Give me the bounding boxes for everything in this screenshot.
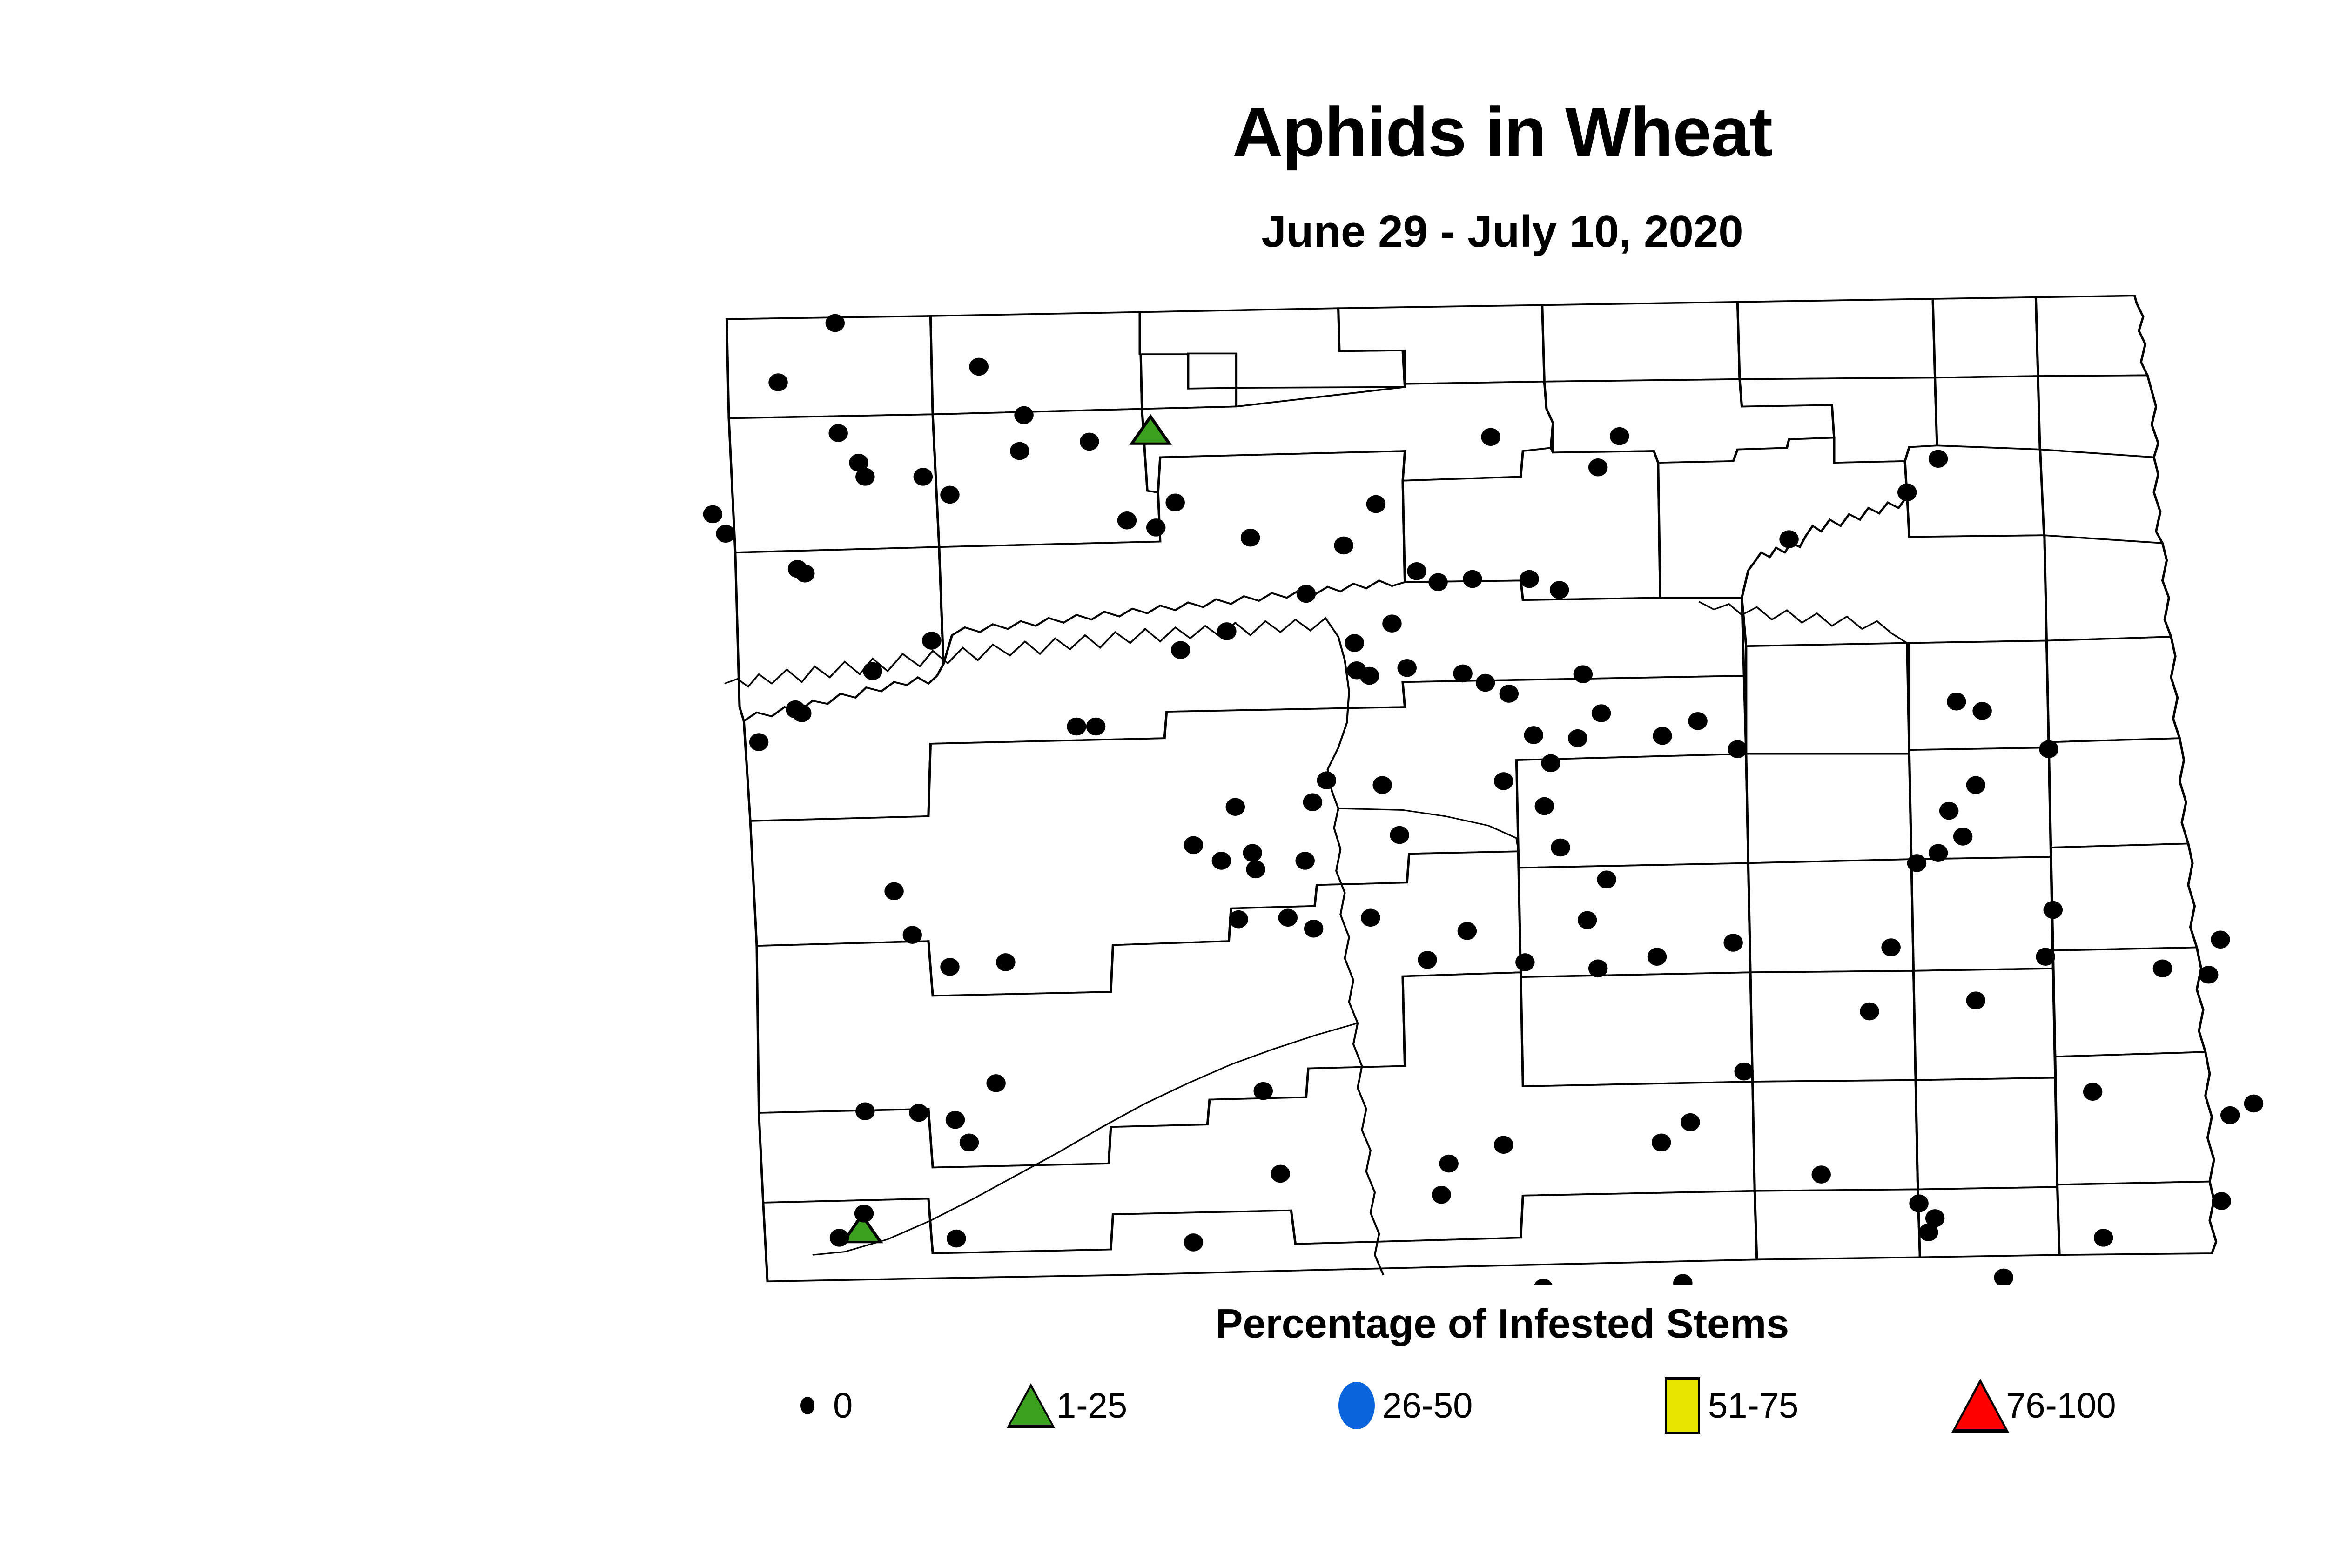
map-marker-0 [2083,1083,2103,1101]
map-marker-0 [1297,585,1316,603]
map-marker-0 [969,358,989,376]
map-marker-0 [1610,427,1629,445]
black-dot-icon [782,1397,833,1414]
map-marker-0 [1366,495,1386,513]
legend-item-1: 1-25 [1005,1383,1331,1428]
map-marker-0 [1966,991,1986,1009]
map-marker-0 [1535,797,1554,815]
map-marker-0 [1500,685,1519,703]
map-marker-0 [947,1230,966,1248]
map-marker-0 [1524,726,1544,744]
map-marker-0 [1592,704,1611,722]
map-marker-0 [1432,1186,1451,1204]
map-marker-0 [1146,518,1166,537]
map-marker-0 [1317,771,1337,789]
map-marker-0 [1295,852,1315,870]
map-marker-0 [828,424,848,442]
map-marker-0 [1014,406,1034,424]
map-marker-0 [2044,901,2063,919]
blue-circle-icon [1331,1382,1382,1429]
map-marker-0 [1574,665,1593,683]
map-marker-0 [1246,861,1265,879]
map-marker-0 [1067,718,1086,736]
map-marker-0 [1533,1279,1553,1285]
map-marker-0 [1407,562,1426,580]
map-marker-0 [1673,1274,1693,1285]
map-marker-0 [2212,1192,2232,1210]
county-boundaries [726,296,2216,1281]
map-marker-0 [1515,953,1535,971]
map-marker-0 [1217,622,1237,640]
legend-label-2: 26-50 [1382,1386,1473,1426]
map-marker-0 [884,882,904,901]
map-marker-0 [1184,836,1204,855]
map-marker-0 [1588,458,1608,477]
map-marker-0 [1929,450,1948,468]
map-marker-0 [1453,665,1473,683]
map-marker-0 [1734,1063,1754,1081]
map-marker-0 [1390,826,1409,844]
map-marker-0 [903,926,922,944]
map-marker-0 [2220,1106,2240,1124]
map-marker-0 [830,1229,849,1247]
map-marker-0 [2199,966,2219,984]
map-marker-0 [1226,798,1245,816]
map-marker-0 [1897,484,1917,502]
map-marker-0 [2153,960,2172,978]
map-marker-0 [1418,951,1437,969]
map-marker-0 [1241,529,1260,547]
page-subtitle: June 29 - July 10, 2020 [0,209,2327,254]
map-marker-0 [1919,1223,1938,1241]
map-marker-0 [2094,1229,2113,1247]
map-marker-0 [2244,1095,2264,1113]
map-marker-0 [1463,570,1482,588]
map-marker-0 [792,704,812,722]
map-marker-0 [960,1134,979,1152]
map-marker-0 [1278,909,1298,927]
map-marker-0 [940,958,960,976]
map-page: Aphids in Wheat June 29 - July 10, 2020 [0,0,2327,1568]
map-marker-0 [1428,573,1448,591]
map-marker-0 [1334,537,1353,555]
map-marker-0 [1947,693,1966,711]
map-marker-0 [1811,1165,1831,1184]
map-marker-0 [1972,702,1992,720]
map-marker-0 [946,1111,965,1129]
map-marker-0 [1652,1134,1671,1152]
map-marker-0 [1086,718,1106,736]
map-marker-0 [1723,934,1743,952]
map-marker-0 [863,662,882,680]
map-marker-0 [1476,674,1495,692]
map-marker-0 [1953,828,1973,846]
map-marker-0 [826,314,845,332]
map-marker-0 [1165,493,1185,511]
map-marker-0 [1171,641,1190,659]
map-marker-0 [1397,659,1417,677]
map-marker-0 [1588,960,1608,978]
map-marker-0 [940,486,960,504]
map-marker-0 [909,1104,928,1122]
map-marker-0 [1939,802,1959,820]
map-svg [652,270,2327,1285]
map-marker-0 [1271,1165,1290,1183]
map-marker-0 [749,733,769,751]
map-marker-0 [1653,727,1672,745]
legend-item-4: 76-100 [1955,1379,2234,1433]
map-marker-0 [768,373,788,391]
map-marker-0 [1688,712,1708,730]
map-marker-0 [1439,1155,1459,1173]
map-marker-0 [1494,1136,1513,1154]
map-marker-0 [1550,581,1569,599]
map-marker-0 [1909,1194,1929,1212]
legend: 0 1-25 26-50 51-75 76-100 [782,1364,2271,1447]
map-marker-0 [2036,948,2055,966]
map-marker-0 [1360,667,1379,685]
map-marker-0 [1117,511,1137,530]
map-marker-0 [2039,740,2058,758]
map-marker-0 [1254,1082,1273,1100]
legend-label-1: 1-25 [1056,1386,1127,1426]
map-marker-0 [855,468,875,486]
map-marker-0 [922,632,942,650]
map-marker-0 [1881,938,1901,956]
map-marker-0 [795,565,815,583]
map-marker-0 [1994,1269,2013,1285]
map-marker-0 [716,525,735,543]
map-marker-0 [914,468,933,486]
map-marker-0 [1458,922,1477,940]
map-marker-0 [1303,793,1323,811]
map-marker-0 [2211,931,2230,949]
map-marker-0 [1779,530,1799,548]
legend-item-0: 0 [782,1386,1005,1426]
map-marker-0 [1597,870,1616,888]
map-marker-0 [986,1074,1006,1092]
legend-label-4: 76-100 [2006,1386,2116,1426]
map-marker-0 [855,1102,875,1120]
map-marker-0 [1929,844,1948,862]
map-marker-0 [1212,852,1231,870]
map-marker-0 [1578,911,1597,929]
map-marker-0 [703,505,723,524]
legend-item-2: 26-50 [1331,1382,1657,1429]
map-marker-0 [1568,729,1587,747]
map-marker-0 [996,953,1016,971]
map-marker-0 [1229,910,1248,929]
map-marker-0 [1361,909,1380,927]
map-marker-0 [1681,1113,1700,1131]
north-dakota-county-map [652,270,2327,1285]
map-marker-0 [1243,844,1262,862]
red-triangle-icon [1955,1379,2006,1433]
green-triangle-icon [1005,1383,1056,1428]
map-marker-0 [1551,839,1570,857]
legend-item-3: 51-75 [1657,1377,1955,1434]
map-marker-0 [1520,570,1539,588]
map-marker-0 [1481,428,1500,446]
map-marker-0 [1860,1003,1879,1021]
map-marker-0 [1541,754,1560,773]
map-marker-0 [1728,740,1748,758]
map-marker-0 [1184,1233,1204,1252]
map-marker-0 [1907,854,1927,872]
map-marker-0 [1345,634,1365,652]
map-marker-0 [1372,776,1392,794]
map-marker-0 [1494,772,1513,790]
map-marker-0 [1382,614,1402,633]
legend-label-0: 0 [833,1386,853,1426]
map-marker-0 [1080,433,1099,451]
map-marker-0 [1966,776,1986,794]
map-marker-0 [1304,920,1324,938]
map-marker-0 [854,1205,874,1223]
map-marker-0 [1010,442,1029,460]
map-marker-0 [1648,948,1667,966]
legend-label-3: 51-75 [1708,1386,1798,1426]
legend-title: Percentage of Infested Stems [0,1303,2327,1344]
yellow-square-icon [1657,1377,1708,1434]
page-title: Aphids in Wheat [0,97,2327,167]
